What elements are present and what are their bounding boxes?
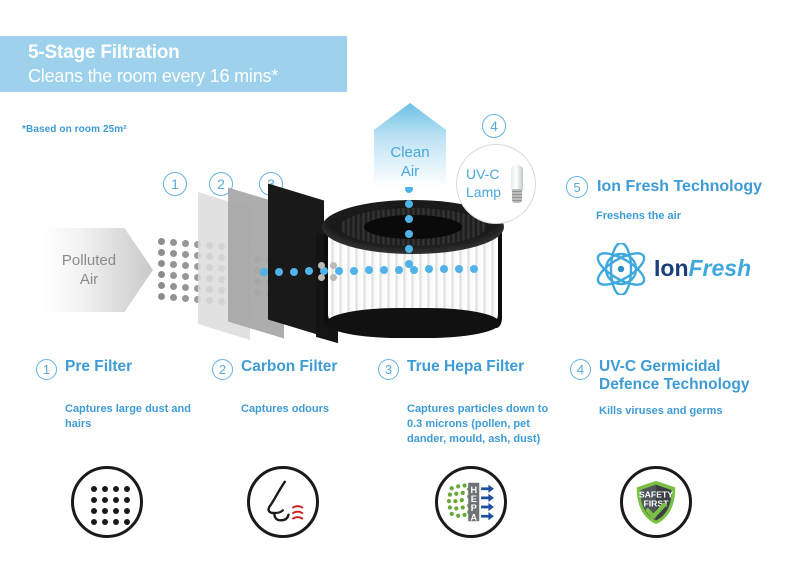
nose-odour-glyph (250, 469, 316, 535)
hepa-arrows-icon: H E P A (435, 466, 507, 538)
nose-odour-icon (247, 466, 319, 538)
ion-fresh-wordmark: IonFresh (654, 255, 751, 282)
feature-pre-filter: 1 Pre Filter Captures large dust and hai… (36, 358, 206, 432)
ion-fresh-heading: 5 Ion Fresh Technology (566, 176, 762, 198)
svg-text:A: A (470, 512, 477, 522)
hepa-bottom-rim (326, 308, 500, 338)
feature-heading: 2 Carbon Filter (212, 358, 382, 380)
polluted-air-arrow: Polluted Air (43, 228, 153, 312)
feature-title-4: UV-C Germicidal Defence Technology (599, 358, 760, 394)
feature-number-2: 2 (212, 359, 233, 380)
feature-heading: 3 True Hepa Filter (378, 358, 553, 380)
clean-air-arrow: Clean Air (374, 103, 446, 187)
polluted-air-label-line1: Polluted (62, 251, 116, 270)
infographic-canvas: 5-Stage Filtration Cleans the room every… (0, 0, 800, 566)
feature-title-2: Carbon Filter (241, 358, 337, 376)
feature-title-1: Pre Filter (65, 358, 132, 376)
ion-fresh-subtitle: Freshens the air (596, 210, 681, 222)
hepa-arrows-glyph: H E P A (438, 469, 504, 535)
clean-air-label-line1: Clean (390, 143, 429, 162)
feature-description-4: Kills viruses and germs (599, 404, 760, 419)
feature-uvc-technology: 4 UV-C Germicidal Defence Technology Kil… (570, 358, 760, 419)
uv-lamp-bulb-icon (511, 165, 523, 191)
banner-title: 5-Stage Filtration (28, 42, 347, 64)
feature-heading: 4 UV-C Germicidal Defence Technology (570, 358, 760, 394)
feature-description-2: Captures odours (241, 402, 382, 417)
feature-description-1: Captures large dust and hairs (65, 402, 206, 432)
stage-number-4: 4 (482, 114, 506, 138)
feature-heading: 1 Pre Filter (36, 358, 206, 380)
header-banner: 5-Stage Filtration Cleans the room every… (0, 36, 347, 92)
feature-number-3: 3 (378, 359, 399, 380)
banner-subtitle: Cleans the room every 16 mins* (28, 65, 347, 87)
safety-first-shield-icon: SAFETY FIRST (620, 466, 692, 538)
safety-first-shield-glyph: SAFETY FIRST (623, 469, 689, 535)
atom-icon (592, 243, 650, 295)
feature-number-1: 1 (36, 359, 57, 380)
stage-number-1: 1 (163, 172, 187, 196)
ion-fresh-word-fresh: Fresh (689, 255, 752, 281)
feature-description-3: Captures particles down to 0.3 microns (… (407, 402, 553, 447)
feature-number-4: 4 (570, 359, 591, 380)
hepa-top-aperture (364, 215, 462, 239)
footnote-text: *Based on room 25m² (22, 124, 127, 135)
feature-title-3: True Hepa Filter (407, 358, 524, 376)
ion-fresh-word-ion: Ion (654, 255, 689, 281)
uvc-lamp-label-line2: Lamp (466, 183, 510, 201)
ion-fresh-title: Ion Fresh Technology (597, 178, 762, 196)
uvc-lamp-callout: UV-C Lamp (456, 144, 536, 224)
uvc-lamp-label: UV-C Lamp (466, 165, 510, 201)
feature-hepa-filter: 3 True Hepa Filter Captures particles do… (378, 358, 553, 447)
feature-carbon-filter: 2 Carbon Filter Captures odours (212, 358, 382, 417)
stage-number-5: 5 (566, 176, 588, 198)
uv-lamp-base-icon (512, 189, 522, 203)
clean-air-label-line2: Air (401, 162, 419, 181)
dot-mesh-grid (91, 486, 129, 524)
polluted-air-label-line2: Air (80, 270, 98, 289)
uvc-lamp-label-line1: UV-C (466, 165, 510, 183)
dot-mesh-icon (71, 466, 143, 538)
ion-fresh-logo: IonFresh (592, 243, 752, 295)
